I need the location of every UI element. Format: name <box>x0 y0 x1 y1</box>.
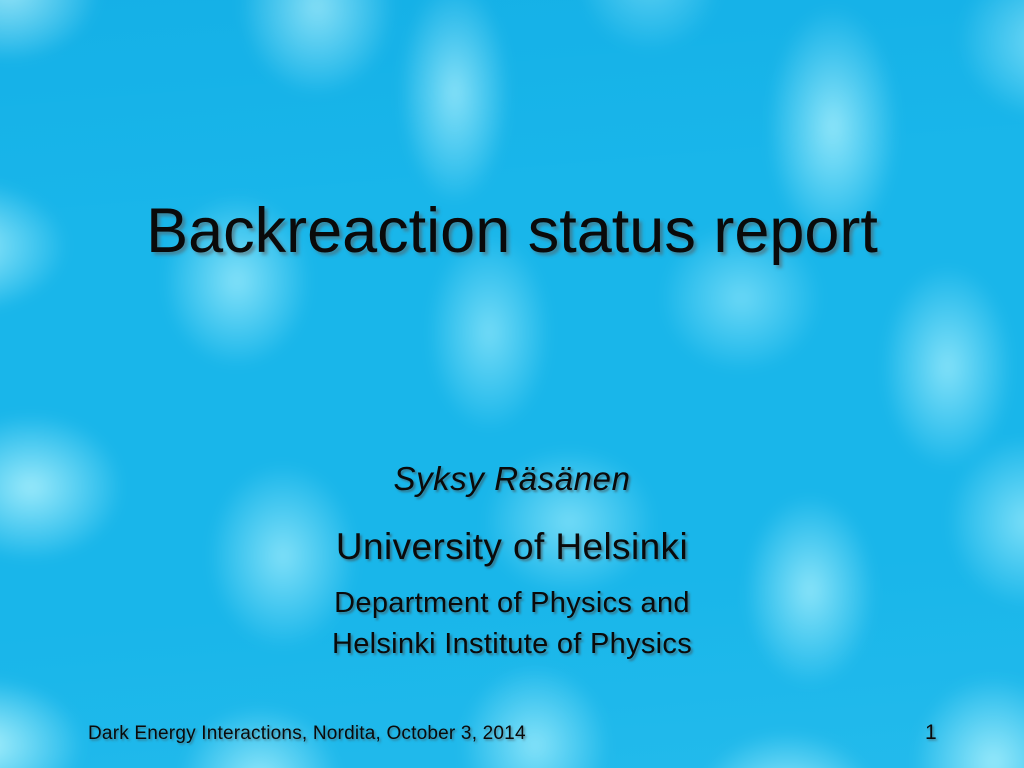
presentation-slide: Backreaction status report Syksy Räsänen… <box>0 0 1024 768</box>
affiliation-department: Department of Physics and <box>0 587 1024 620</box>
slide-content: Backreaction status report Syksy Räsänen… <box>0 0 1024 768</box>
affiliation-institute: Helsinki Institute of Physics <box>0 628 1024 661</box>
slide-title: Backreaction status report <box>0 198 1024 264</box>
author-name: Syksy Räsänen <box>0 460 1024 498</box>
affiliation-university: University of Helsinki <box>0 526 1024 568</box>
footer-conference-info: Dark Energy Interactions, Nordita, Octob… <box>88 723 526 745</box>
slide-number: 1 <box>925 721 937 745</box>
